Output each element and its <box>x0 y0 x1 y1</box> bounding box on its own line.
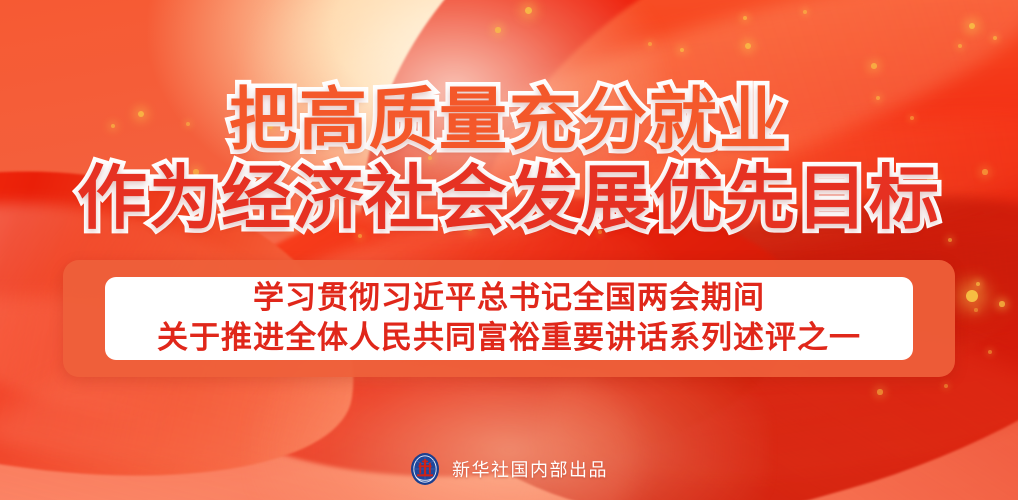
gold-particle <box>186 122 190 126</box>
gold-particle <box>876 96 880 100</box>
gold-particle <box>267 123 272 128</box>
gold-particle <box>966 290 978 302</box>
silk-ribbon-top-right-2 <box>392 0 1018 500</box>
gold-particle <box>871 63 877 69</box>
gold-particle <box>564 114 568 118</box>
gold-particle <box>758 190 763 195</box>
gold-particle <box>680 48 685 53</box>
gold-particle <box>310 176 314 180</box>
gold-particle <box>495 27 500 32</box>
gold-particle <box>877 389 882 394</box>
gold-particle <box>988 350 992 354</box>
gold-particle <box>948 238 952 242</box>
gold-particle <box>358 234 362 238</box>
footer-credit: 新华社国内部出品 <box>0 452 1018 486</box>
gold-particle <box>138 111 144 117</box>
gold-particle <box>958 44 962 48</box>
gold-particle <box>467 225 473 231</box>
silk-highlight-band-1 <box>332 0 1018 288</box>
gold-particle <box>982 169 987 174</box>
subtitle-line-2: 关于推进全体人民共同富裕重要讲话系列述评之一 <box>157 320 861 357</box>
gold-particle <box>428 156 433 161</box>
gold-particle <box>944 384 948 388</box>
background-glow-top <box>244 0 664 240</box>
gold-particle <box>648 42 652 46</box>
gold-particle <box>743 16 747 20</box>
headline-block: 把高质量充分就业 作为经济社会发展优先目标 <box>0 86 1018 235</box>
subtitle-box: 学习贯彻习近平总书记全国两会期间 关于推进全体人民共同富裕重要讲话系列述评之一 <box>105 277 913 360</box>
gold-particle <box>111 124 116 129</box>
headline-line-1: 把高质量充分就业 <box>0 86 1018 155</box>
xinhua-news-agency-logo-icon <box>410 452 440 486</box>
gold-particle <box>910 116 914 120</box>
gold-particle <box>927 177 933 183</box>
gold-particle <box>976 282 980 286</box>
silk-ribbon-top-right <box>274 0 1018 500</box>
footer-credit-text: 新华社国内部出品 <box>452 456 608 482</box>
gold-particle <box>745 43 751 49</box>
gold-particle <box>193 169 198 174</box>
gold-particle <box>287 219 294 226</box>
poster-canvas: 把高质量充分就业 作为经济社会发展优先目标 学习贯彻习近平总书记全国两会期间 关… <box>0 0 1018 500</box>
gold-particle <box>974 308 978 312</box>
headline-line-2: 作为经济社会发展优先目标 <box>0 163 1018 234</box>
gold-particle <box>803 10 807 14</box>
gold-particle <box>525 7 532 14</box>
gold-particle <box>245 173 251 179</box>
subtitle-line-1: 学习贯彻习近平总书记全国两会期间 <box>253 280 765 317</box>
gold-particle <box>993 36 997 40</box>
subtitle-box-border: 学习贯彻习近平总书记全国两会期间 关于推进全体人民共同富裕重要讲话系列述评之一 <box>63 260 955 377</box>
gold-particle <box>969 23 976 30</box>
gold-particle <box>999 301 1004 306</box>
gold-particle <box>598 230 602 234</box>
